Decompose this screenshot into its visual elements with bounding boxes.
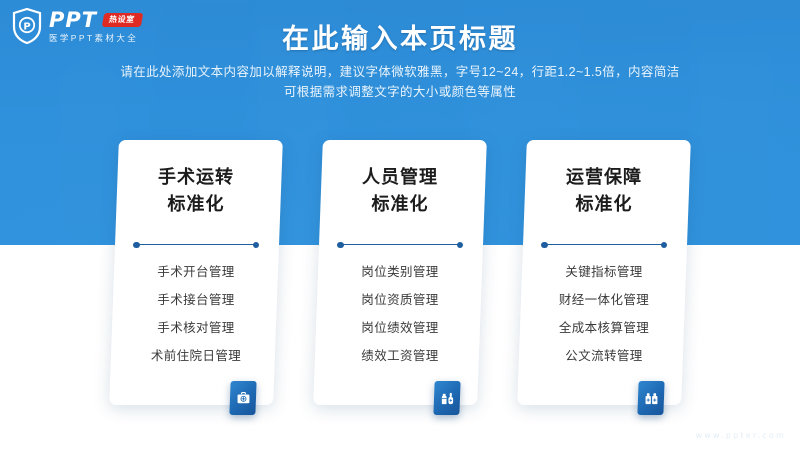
shield-p-icon: P [12,8,42,44]
svg-text:P: P [23,21,30,32]
list-item: 术前住院日管理 [114,342,278,370]
medicine-bottles-icon[interactable] [433,381,460,415]
card-surgery-operations[interactable]: 手术运转 标准化 手术开台管理 手术接台管理 手术核对管理 术前住院日管理 [109,140,283,405]
list-item: 岗位资质管理 [318,286,482,314]
list-item: 财经一体化管理 [522,286,686,314]
divider-dot-right [457,242,464,249]
card-title-line-2: 标准化 [318,191,482,218]
subtitle-line-1: 请在此处添加文本内容加以解释说明，建议字体微软雅黑，字号12~24，行距1.2~… [0,62,800,82]
logo-primary-row: PPT 热设室 [49,10,142,31]
card-item-list: 岗位类别管理 岗位资质管理 岗位绩效管理 绩效工资管理 [318,258,482,370]
divider-line [341,244,459,245]
card-personnel-management[interactable]: 人员管理 标准化 岗位类别管理 岗位资质管理 岗位绩效管理 绩效工资管理 [313,140,487,405]
card-divider [541,240,667,249]
card-item-list: 关键指标管理 财经一体化管理 全成本核算管理 公文流转管理 [522,258,686,370]
logo-tagline: 医学PPT素材大全 [49,34,142,43]
card-title: 人员管理 标准化 [318,164,482,218]
card-title-line-2: 标准化 [114,191,278,218]
card-title-line-2: 标准化 [522,191,686,218]
list-item: 全成本核算管理 [522,314,686,342]
slide-canvas: P PPT 热设室 医学PPT素材大全 在此输入本页标题 请在此处添加文本内容加… [0,0,800,450]
list-item: 绩效工资管理 [318,342,482,370]
list-item: 岗位绩效管理 [318,314,482,342]
twin-medicine-bottles-icon[interactable] [637,381,664,415]
card-operations-support[interactable]: 运营保障 标准化 关键指标管理 财经一体化管理 全成本核算管理 公文流转管理 [517,140,691,405]
site-logo[interactable]: P PPT 热设室 医学PPT素材大全 [12,8,142,44]
card-title-line-1: 人员管理 [318,164,482,191]
divider-dot-right [253,242,260,249]
list-item: 手术接台管理 [114,286,278,314]
card-title: 手术运转 标准化 [114,164,278,218]
list-item: 手术开台管理 [114,258,278,286]
list-item: 关键指标管理 [522,258,686,286]
card-divider [133,240,259,249]
list-item: 岗位类别管理 [318,258,482,286]
logo-red-badge: 热设室 [102,13,143,27]
card-title: 运营保障 标准化 [522,164,686,218]
medical-bag-icon[interactable] [229,381,256,415]
divider-dot-right [661,242,668,249]
divider-line [137,244,255,245]
card-title-line-1: 运营保障 [522,164,686,191]
subtitle-line-2: 可根据需求调整文字的大小或颜色等属性 [0,82,800,102]
list-item: 公文流转管理 [522,342,686,370]
list-item: 手术核对管理 [114,314,278,342]
divider-line [545,244,663,245]
logo-brand-text: PPT [49,10,97,31]
card-item-list: 手术开台管理 手术接台管理 手术核对管理 术前住院日管理 [114,258,278,370]
card-title-line-1: 手术运转 [114,164,278,191]
site-watermark: www.ppter.com [696,431,786,440]
logo-text-block: PPT 热设室 医学PPT素材大全 [49,10,142,43]
page-subtitle: 请在此处添加文本内容加以解释说明，建议字体微软雅黑，字号12~24，行距1.2~… [0,62,800,102]
card-divider [337,240,463,249]
